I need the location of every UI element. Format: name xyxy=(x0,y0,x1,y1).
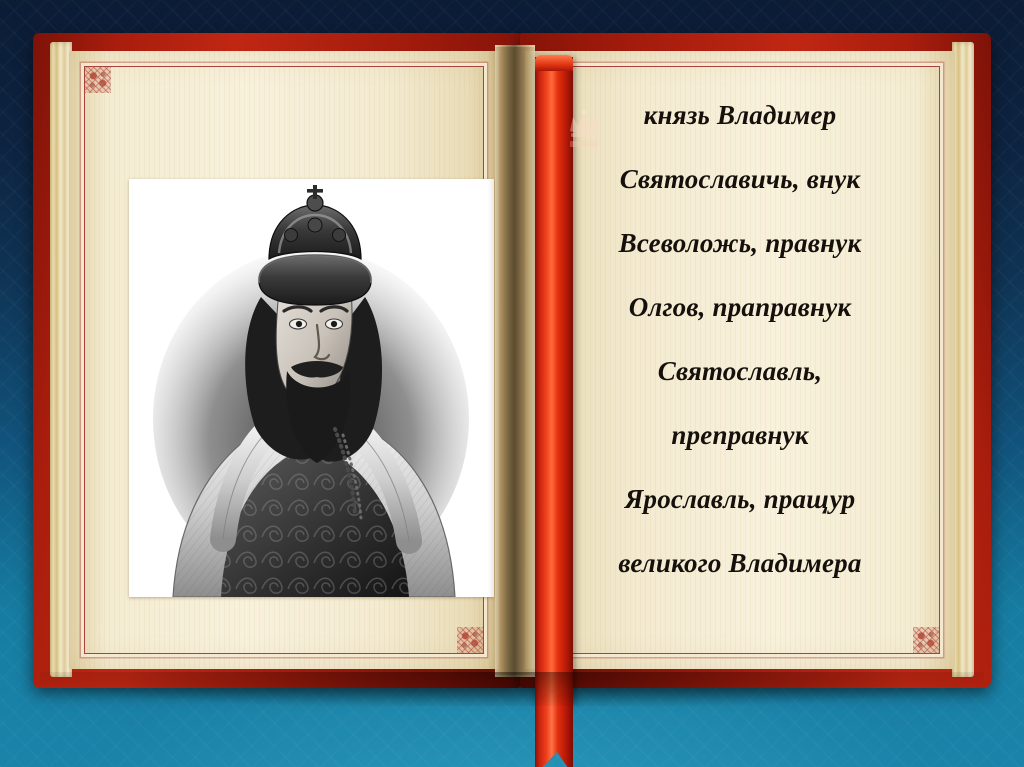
text-line: великого Владимера xyxy=(543,531,937,595)
text-line: Олгов, праправнук xyxy=(543,275,937,339)
text-line: Ярославль, пращур xyxy=(543,467,937,531)
prince-portrait-image xyxy=(129,179,494,597)
corner-ornament-icon xyxy=(457,627,483,653)
genealogy-text-block: князь Владимер Святославичь, внук Всевол… xyxy=(543,77,937,643)
text-line: преправнук xyxy=(543,403,937,467)
page-fore-edge-right xyxy=(952,42,974,677)
text-line: Святославичь, внук xyxy=(543,147,937,211)
crown-emblem-icon xyxy=(564,107,604,153)
text-line: Святославль, xyxy=(543,339,937,403)
book-page-left xyxy=(69,51,499,669)
open-book: князь Владимер Святославичь, внук Всевол… xyxy=(33,33,991,688)
text-line: Всеволожь, правнук xyxy=(543,211,937,275)
book-gutter-page-edges xyxy=(495,45,535,677)
bookmark-ribbon-tail xyxy=(535,693,573,767)
bookmark-ribbon-fold xyxy=(535,55,573,71)
corner-ornament-icon xyxy=(85,67,111,93)
slide-canvas: князь Владимер Святославичь, внук Всевол… xyxy=(0,0,1024,767)
prince-portrait-engraving-icon xyxy=(129,179,494,597)
bookmark-ribbon xyxy=(535,57,573,705)
